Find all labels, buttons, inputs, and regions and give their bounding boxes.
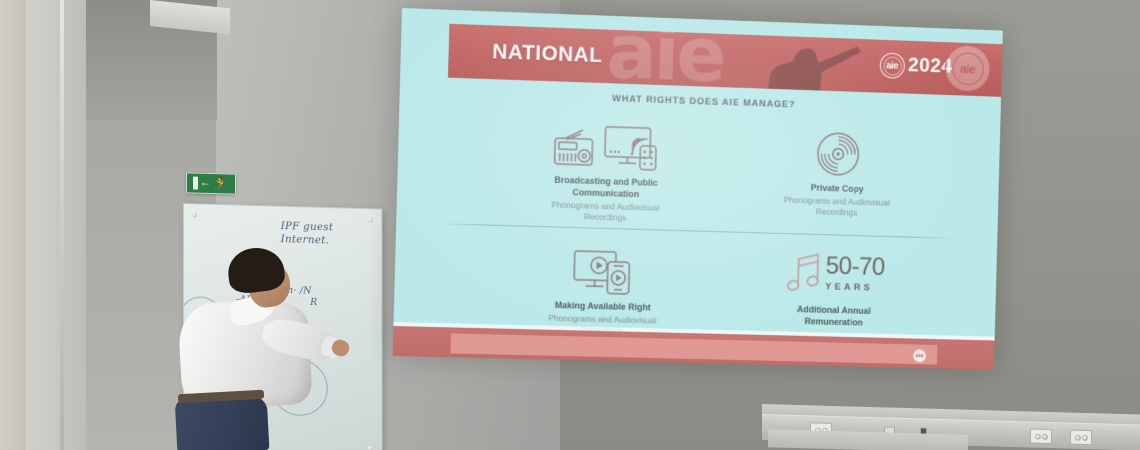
remuneration-icons: 50-70 YEARS (723, 243, 946, 304)
running-person-icon: 🏃 (213, 177, 229, 190)
broadcasting-icons (493, 111, 720, 174)
aie-logo-icon: aie (880, 52, 906, 78)
banner-watermark-text: aie (606, 24, 725, 93)
private-copy-icons (726, 119, 948, 181)
emergency-exit-sign: ← 🏃 (186, 172, 236, 194)
tv-wifi-remote-icon (602, 123, 664, 172)
exit-door-icon (193, 177, 198, 190)
rights-item-making-available: Making Available Right Phonograms and Au… (489, 237, 717, 339)
whiteboard-mount-stud (368, 445, 373, 450)
wall-column-edge (60, 0, 64, 450)
wall-socket[interactable] (1070, 430, 1092, 446)
whiteboard-note: IPF guest Internet. (281, 221, 334, 248)
presentation-slide: aie NATIONAL aie 2024 aie WHAT RIGHTS DO… (393, 8, 1003, 370)
radio-icon (550, 127, 596, 170)
rights-item-private-copy: Private Copy Phonograms and Audiovisual … (725, 119, 949, 221)
making-available-icons (490, 237, 717, 299)
slide-banner: aie NATIONAL aie 2024 (448, 24, 1002, 97)
rights-item-additional-remuneration: 50-70 YEARS Additional Annual Remunerati… (722, 243, 945, 331)
exit-arrow-icon: ← (200, 178, 211, 189)
vinyl-record-icon (814, 130, 861, 179)
whiteboard-mount-stud (368, 217, 373, 222)
aie-logo-small-text: aie (886, 60, 898, 71)
wall-left-strip (0, 0, 26, 450)
projection-screen: aie NATIONAL aie 2024 aie WHAT RIGHTS DO… (393, 8, 1003, 370)
wall-socket[interactable] (1030, 428, 1052, 444)
monitor-phone-play-icon (572, 247, 636, 296)
presenter (170, 245, 345, 450)
years-label: YEARS (825, 281, 873, 293)
whiteboard-mount-stud (192, 212, 197, 217)
years-number: 50-70 (825, 255, 885, 280)
rights-item-title: Additional Annual Remuneration (722, 302, 944, 331)
rights-grid: Broadcasting and Public Communication Ph… (437, 109, 958, 333)
rights-item-broadcasting: Broadcasting and Public Communication Ph… (492, 111, 720, 226)
performer-silhouette-icon (760, 37, 877, 94)
aie-logo-big-text: aie (951, 52, 983, 85)
music-note-icon (785, 251, 827, 295)
years-block: 50-70 YEARS (825, 255, 885, 294)
slide-title: NATIONAL (492, 40, 603, 68)
